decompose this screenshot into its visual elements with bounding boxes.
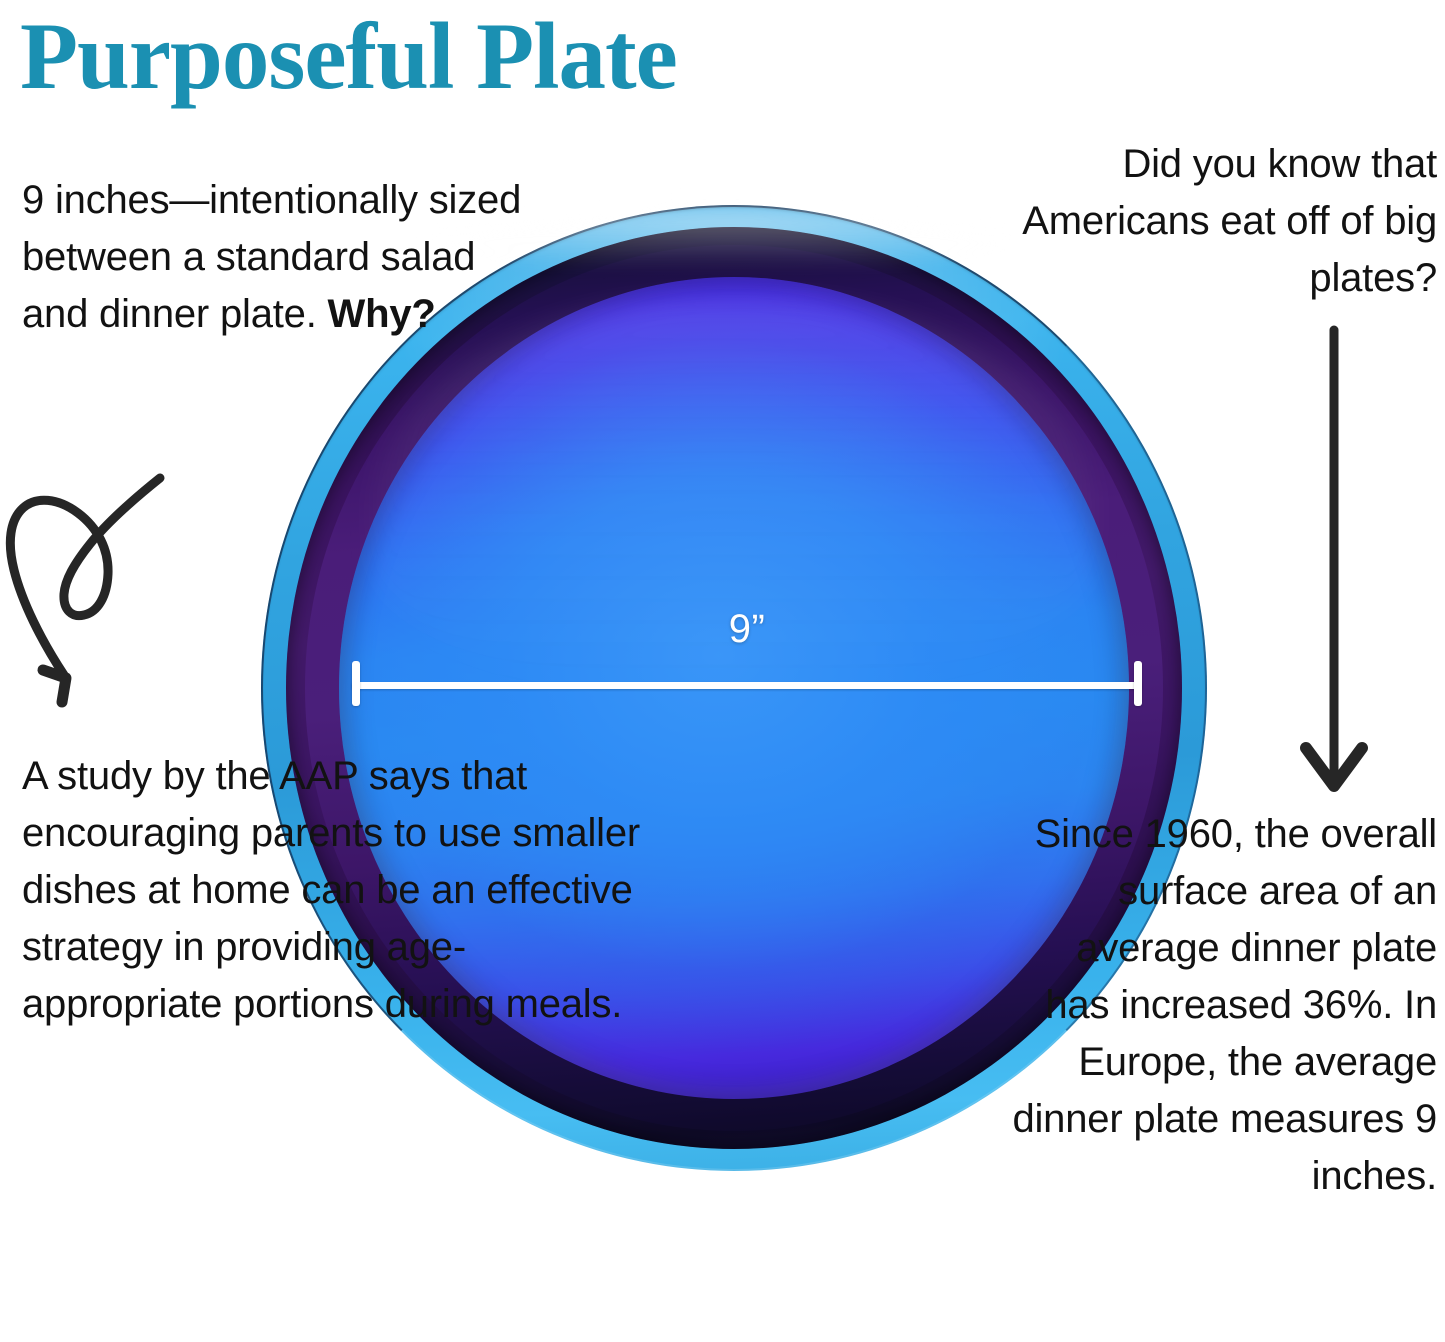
dimension-cap-right [1134,661,1142,706]
straight-arrow-down-icon [1288,324,1380,802]
callout-plate-size: 9 inches—intentionally sized between a s… [22,172,522,343]
callout-plate-size-emphasis: Why? [328,292,436,336]
callout-aap-study: A study by the AAP says that encouraging… [22,748,652,1033]
callout-plate-size-text: 9 inches—intentionally sized between a s… [22,178,521,336]
diameter-label: 9” [352,606,1142,652]
curly-loop-arrow-icon [2,462,212,747]
dimension-bar [352,682,1142,689]
callout-plate-growth-stat: Since 1960, the overall surface area of … [1007,806,1437,1205]
infographic-canvas: Purposeful Plate 9” 9 inches—intentional… [0,0,1445,1342]
diameter-dimension-line: 9” [352,680,1142,688]
callout-did-you-know: Did you know that Americans eat off of b… [1017,136,1437,307]
page-title: Purposeful Plate [20,2,677,110]
dimension-cap-left [352,661,360,706]
